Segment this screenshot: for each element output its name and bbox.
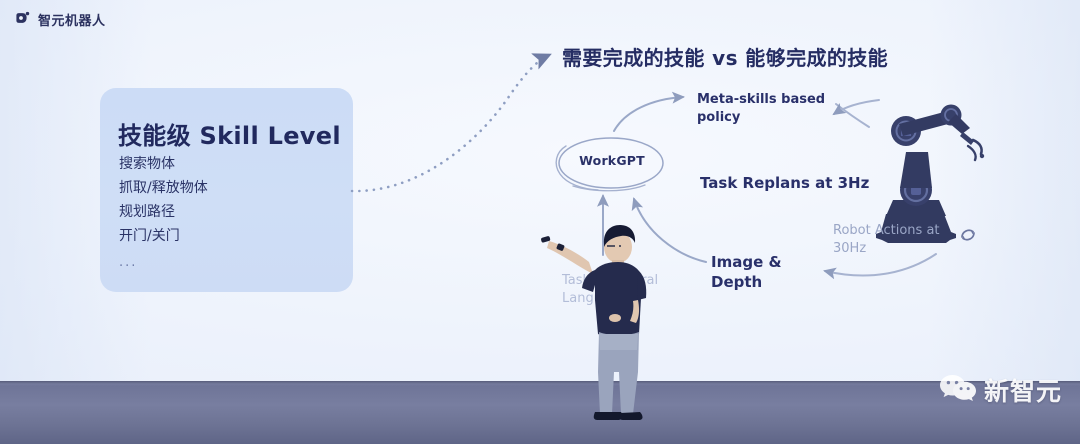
list-item: 开门/关门 [119,228,208,244]
list-item: 搜索物体 [119,156,208,172]
list-item-ellipsis: ... [119,252,208,271]
brand-name: 智元机器人 [38,10,106,29]
slide-heading: 需要完成的技能 vs 能够完成的技能 [562,42,888,71]
wechat-icon [939,373,977,408]
label-workgpt: WorkGPT [572,153,652,168]
label-meta-skills: Meta-skills based policy [697,91,837,126]
panel-title: 技能级 Skill Level [118,116,341,151]
list-item: 抓取/释放物体 [119,180,208,196]
watermark-text: 新智元 [984,372,1062,408]
skill-list: 搜索物体 抓取/释放物体 规划路径 开门/关门 ... [119,156,208,271]
label-robot-actions: Robot Actions at 30Hz [833,222,953,257]
list-item: 规划路径 [119,204,208,220]
presenter-silhouette [535,222,655,422]
label-image-depth: Image & Depth [711,252,801,293]
skill-level-panel: 技能级 Skill Level 搜索物体 抓取/释放物体 规划路径 开门/关门 … [100,88,353,292]
aglibot-logo-icon [14,11,31,28]
brand-logo: 智元机器人 [14,10,106,29]
label-task-replans: Task Replans at 3Hz [700,173,869,193]
watermark: 新智元 [939,372,1062,408]
slide-photo: 智元机器人 技能级 Skill Level 搜索物体 抓取/释放物体 规划路径 … [0,0,1080,444]
